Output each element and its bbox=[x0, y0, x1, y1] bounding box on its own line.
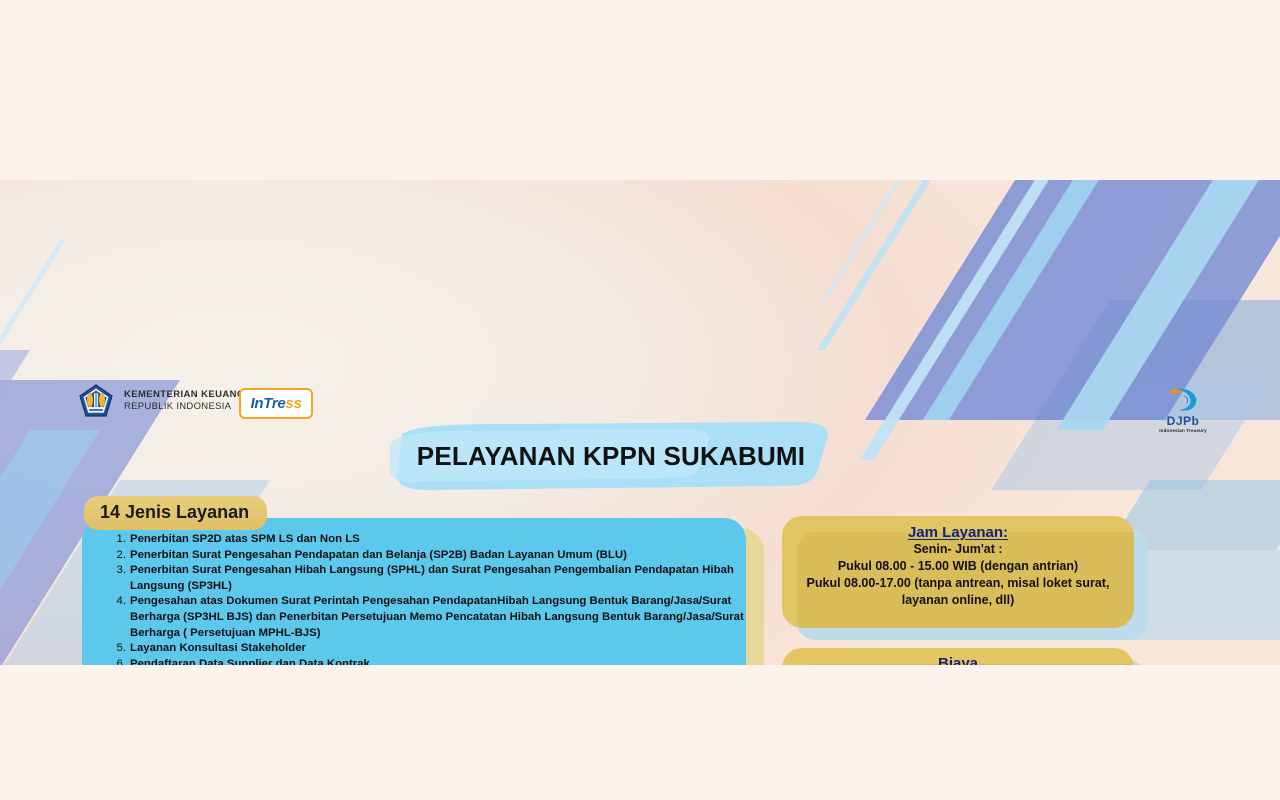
card-content: Jam Layanan: Senin- Jum'at : Pukul 08.00… bbox=[782, 516, 1134, 609]
deco-line bbox=[822, 180, 920, 300]
services-badge: 14 Jenis Layanan bbox=[84, 496, 267, 530]
list-item: Penerbitan SP2D atas SPM LS dan Non LS bbox=[118, 532, 758, 548]
deco-band bbox=[865, 180, 1280, 420]
list-item: Pendaftaran Data Supplier dan Data Kontr… bbox=[118, 657, 758, 665]
card-content: Biaya Gratis/Nol Rupiah/Tanpa Biaya bbox=[782, 648, 1134, 665]
ministry-logo: KEMENTERIAN KEUANGAN REPUBLIK INDONESIA bbox=[78, 383, 259, 419]
deco-line bbox=[0, 240, 66, 420]
service-hours-line: Senin- Jum'at : bbox=[782, 541, 1134, 558]
services-list: Penerbitan SP2D atas SPM LS dan Non LS P… bbox=[96, 532, 758, 665]
intress-logo: InTress bbox=[239, 388, 313, 419]
pentagon-ministry-logo-icon bbox=[78, 383, 114, 419]
list-item: Penerbitan Surat Pengesahan Pendapatan d… bbox=[118, 548, 758, 564]
list-item: Layanan Konsultasi Stakeholder bbox=[118, 641, 758, 657]
service-hours-line: Pukul 08.00 - 15.00 WIB (dengan antrian) bbox=[782, 558, 1134, 575]
djpb-logo: DJPb Indonesian Treasury bbox=[1148, 385, 1218, 440]
intress-logo-text: InTress bbox=[251, 395, 302, 412]
deco-band bbox=[0, 350, 30, 665]
title-ribbon: PELAYANAN KPPN SUKABUMI bbox=[386, 420, 836, 492]
djpb-name: DJPb bbox=[1148, 414, 1218, 428]
deco-line bbox=[817, 180, 950, 350]
djpb-subtitle: Indonesian Treasury bbox=[1148, 428, 1218, 433]
deco-band bbox=[860, 180, 1080, 460]
page-title: PELAYANAN KPPN SUKABUMI bbox=[386, 420, 836, 492]
fee-card: Biaya Gratis/Nol Rupiah/Tanpa Biaya bbox=[782, 648, 1134, 665]
djpb-swoosh-icon bbox=[1148, 385, 1218, 413]
service-hours-line: Pukul 08.00-17.00 (tanpa antrean, misal … bbox=[782, 575, 1134, 592]
list-item: Pengesahan atas Dokumen Surat Perintah P… bbox=[118, 594, 758, 641]
poster-canvas: KEMENTERIAN KEUANGAN REPUBLIK INDONESIA … bbox=[0, 180, 1280, 665]
deco-band bbox=[923, 180, 1130, 420]
deco-band bbox=[991, 380, 1270, 490]
deco-band bbox=[913, 180, 1220, 420]
service-hours-line: layanan online, dll) bbox=[782, 592, 1134, 609]
fee-title: Biaya bbox=[782, 655, 1134, 665]
list-item: Penerbitan Surat Pengesahan Hibah Langsu… bbox=[118, 563, 758, 594]
service-hours-card: Jam Layanan: Senin- Jum'at : Pukul 08.00… bbox=[782, 516, 1134, 628]
service-hours-title: Jam Layanan: bbox=[782, 524, 1134, 541]
